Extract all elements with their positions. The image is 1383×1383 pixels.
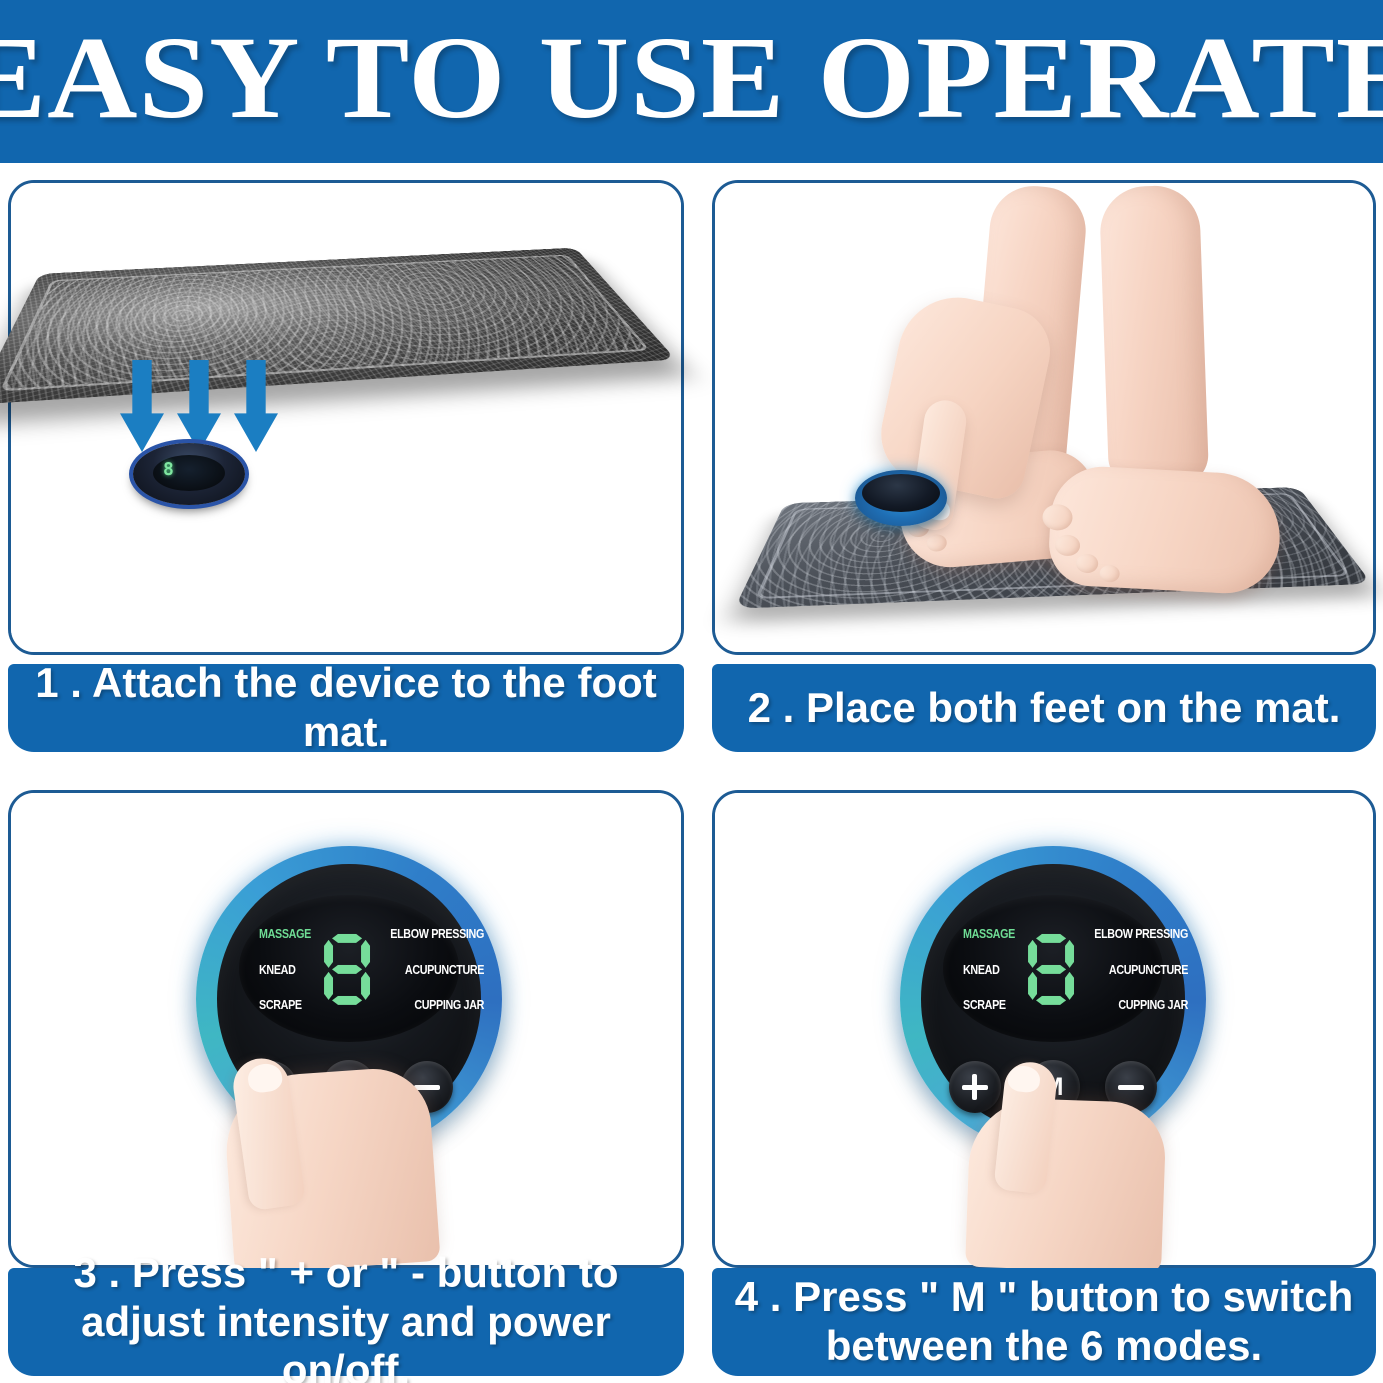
mode-label-cupping-jar: CUPPING JAR [1118,998,1188,1012]
device-display: MASSAGE KNEAD SCRAPE ELBOW PRESSING ACUP… [943,895,1163,1042]
toe [926,534,947,553]
minus-icon [414,1085,440,1090]
toe [1055,534,1081,556]
device-display-content: MASSAGE KNEAD SCRAPE ELBOW PRESSING ACUP… [963,927,1144,1012]
leg [1099,184,1209,487]
step-3-caption: 3 . Press " + or " - button to adjust in… [8,1268,684,1376]
mode-label-cupping-jar: CUPPING JAR [414,998,484,1012]
seven-segment-digit [324,934,370,1006]
step-4-caption: 4 . Press " M " button to switch between… [712,1268,1376,1376]
mode-label-acupuncture: ACUPUNCTURE [1109,963,1188,977]
segment-g [1036,965,1066,974]
step-1-caption: 1 . Attach the device to the foot mat. [8,664,684,752]
plus-icon [972,1074,977,1100]
segment-a [1036,934,1066,943]
step-1-image-panel [8,180,684,655]
device-display [862,474,940,512]
right-foot [1047,464,1283,596]
toe [1076,553,1099,573]
device-display-content: MASSAGE KNEAD SCRAPE ELBOW PRESSING ACUP… [259,927,440,1012]
mode-labels-right: ELBOW PRESSING ACUPUNCTURE CUPPING JAR [375,927,484,1012]
segment-d [1036,996,1066,1005]
segment-d [332,996,362,1005]
header-banner: EASY TO USE OPERATE [0,0,1383,163]
device-display-digit: 8 [163,459,174,480]
ems-control-device-step-2 [855,470,947,526]
mode-label-massage: MASSAGE [963,927,1015,941]
hand [965,1097,1167,1274]
mode-label-knead: KNEAD [963,963,1000,977]
ems-control-device-step-1: 8 [133,443,245,505]
segment-f [1028,940,1037,968]
segment-g [332,965,362,974]
step-2-caption: 2 . Place both feet on the mat. [712,664,1376,752]
mode-label-elbow-pressing: ELBOW PRESSING [1094,927,1188,941]
segment-f [324,940,333,968]
segment-e [1028,972,1037,1000]
segment-b [361,940,370,968]
mode-label-acupuncture: ACUPUNCTURE [405,963,484,977]
mode-label-elbow-pressing: ELBOW PRESSING [390,927,484,941]
mode-labels-left: MASSAGE KNEAD SCRAPE [963,927,1023,1012]
segment-a [332,934,362,943]
device-display: MASSAGE KNEAD SCRAPE ELBOW PRESSING ACUP… [239,895,459,1042]
toe [1099,565,1120,583]
product-instruction-infographic: EASY TO USE OPERATE 8 [0,0,1383,1383]
segment-b [1065,940,1074,968]
plus-button[interactable] [949,1061,1001,1113]
seven-segment-digit [1028,934,1074,1006]
mode-label-knead: KNEAD [259,963,296,977]
minus-icon [1118,1085,1144,1090]
segment-e [324,972,333,1000]
segment-c [361,972,370,1000]
mode-labels-left: MASSAGE KNEAD SCRAPE [259,927,319,1012]
mode-label-scrape: SCRAPE [963,998,1006,1012]
toe [1042,504,1073,532]
page-title: EASY TO USE OPERATE [0,8,1383,148]
mode-label-massage: MASSAGE [259,927,311,941]
segment-c [1065,972,1074,1000]
mode-label-scrape: SCRAPE [259,998,302,1012]
mode-labels-right: ELBOW PRESSING ACUPUNCTURE CUPPING JAR [1079,927,1188,1012]
